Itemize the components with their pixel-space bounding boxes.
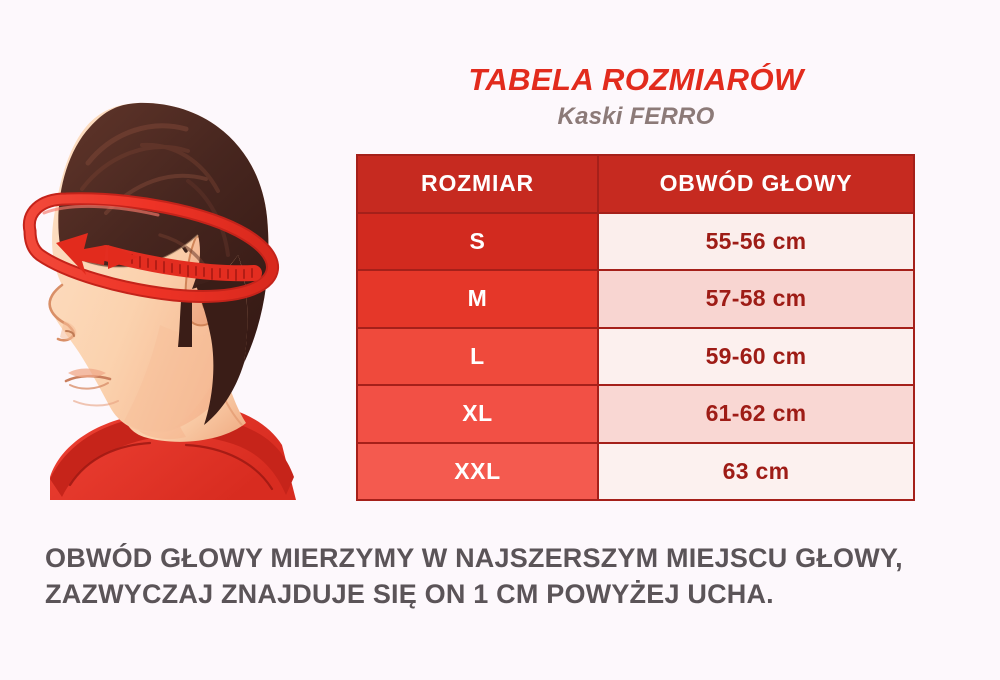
cell-size: XL	[357, 385, 598, 443]
instruction-line-1: OBWÓD GŁOWY MIERZYMY W NAJSZERSZYM MIEJS…	[45, 540, 955, 576]
cell-size: XXL	[357, 443, 598, 501]
title-block: TABELA ROZMIARÓW Kaski FERRO	[356, 64, 916, 131]
cell-circumference: 61-62 cm	[598, 385, 914, 443]
table-row: L 59-60 cm	[357, 328, 914, 386]
cell-circumference: 57-58 cm	[598, 270, 914, 328]
instruction-line-2: ZAZWYCZAJ ZNAJDUJE SIĘ ON 1 CM POWYŻEJ U…	[45, 576, 955, 612]
size-table: ROZMIAR OBWÓD GŁOWY S 55-56 cm M 57-58 c…	[356, 154, 915, 501]
table-row: XL 61-62 cm	[357, 385, 914, 443]
table-row: M 57-58 cm	[357, 270, 914, 328]
cell-size: M	[357, 270, 598, 328]
measurement-instructions: OBWÓD GŁOWY MIERZYMY W NAJSZERSZYM MIEJS…	[45, 540, 955, 613]
table-header: ROZMIAR OBWÓD GŁOWY	[357, 155, 914, 213]
page-title: TABELA ROZMIARÓW	[356, 64, 916, 97]
cell-size: S	[357, 213, 598, 271]
page-subtitle: Kaski FERRO	[356, 103, 916, 131]
head-measurement-illustration	[10, 85, 340, 500]
size-chart-page: TABELA ROZMIARÓW Kaski FERRO ROZMIAR OBW…	[0, 0, 1000, 680]
column-header-circumference: OBWÓD GŁOWY	[598, 155, 914, 213]
table-header-row: ROZMIAR OBWÓD GŁOWY	[357, 155, 914, 213]
column-header-size: ROZMIAR	[357, 155, 598, 213]
cell-circumference: 55-56 cm	[598, 213, 914, 271]
cell-circumference: 63 cm	[598, 443, 914, 501]
table-row: S 55-56 cm	[357, 213, 914, 271]
table-body: S 55-56 cm M 57-58 cm L 59-60 cm XL 61-6…	[357, 213, 914, 501]
cell-size: L	[357, 328, 598, 386]
cell-circumference: 59-60 cm	[598, 328, 914, 386]
table-row: XXL 63 cm	[357, 443, 914, 501]
